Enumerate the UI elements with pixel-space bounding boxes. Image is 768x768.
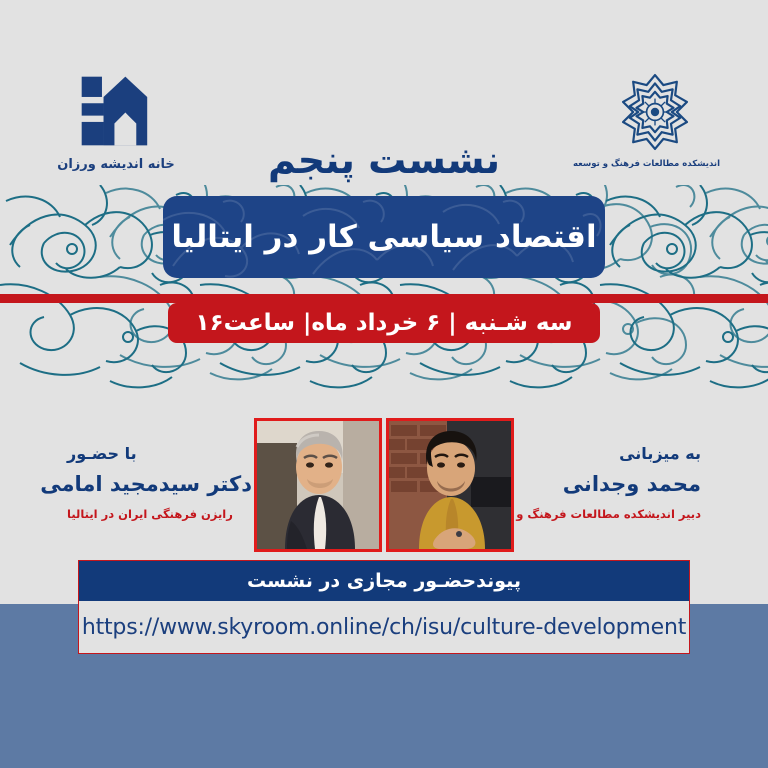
red-divider-rule (0, 294, 768, 303)
host-subtitle: دبیر اندیشکده مطالعات فرهنگ و توسعه (516, 507, 701, 521)
host-role-label: به میزبانی (516, 444, 701, 463)
guest-photo (254, 418, 382, 552)
date-time-text: سه شـنبه | ۶ خرداد ماه| ساعت۱۶ (196, 310, 573, 336)
date-time-chip: سه شـنبه | ۶ خرداد ماه| ساعت۱۶ (168, 303, 600, 343)
poster-title: اقتصاد سیاسی کار در ایتالیا (171, 219, 596, 255)
link-heading-bar: پیوندحضـور مجازی در نشست (79, 561, 689, 601)
virtual-attendance-link-block: پیوندحضـور مجازی در نشست https://www.sky… (78, 560, 690, 654)
link-heading-text: پیوندحضـور مجازی در نشست (247, 570, 521, 592)
host-info: به میزبانی محمد وجدانی دبیر اندیشکده مطا… (516, 418, 711, 521)
meeting-url-row[interactable]: https://www.skyroom.online/ch/isu/cultur… (79, 601, 689, 653)
event-poster: خانه اندیشه ورزان (0, 0, 768, 768)
host-photo (386, 418, 514, 552)
guest-name: دکتر سیدمجید امامی (67, 472, 252, 496)
session-label: نشست پنجم (0, 138, 768, 182)
guest-role-label: با حضـور (67, 444, 252, 463)
host-name: محمد وجدانی (516, 472, 701, 496)
guest-subtitle: رایزن فرهنگی ایران در ایتالیا (67, 507, 252, 521)
guest-info: با حضـور دکتر سیدمجید امامی رایزن فرهنگی… (57, 418, 252, 521)
meeting-url[interactable]: https://www.skyroom.online/ch/isu/cultur… (82, 615, 686, 640)
title-banner: اقتصاد سیاسی کار در ایتالیا (163, 196, 605, 278)
speakers-row: به میزبانی محمد وجدانی دبیر اندیشکده مطا… (0, 418, 768, 550)
